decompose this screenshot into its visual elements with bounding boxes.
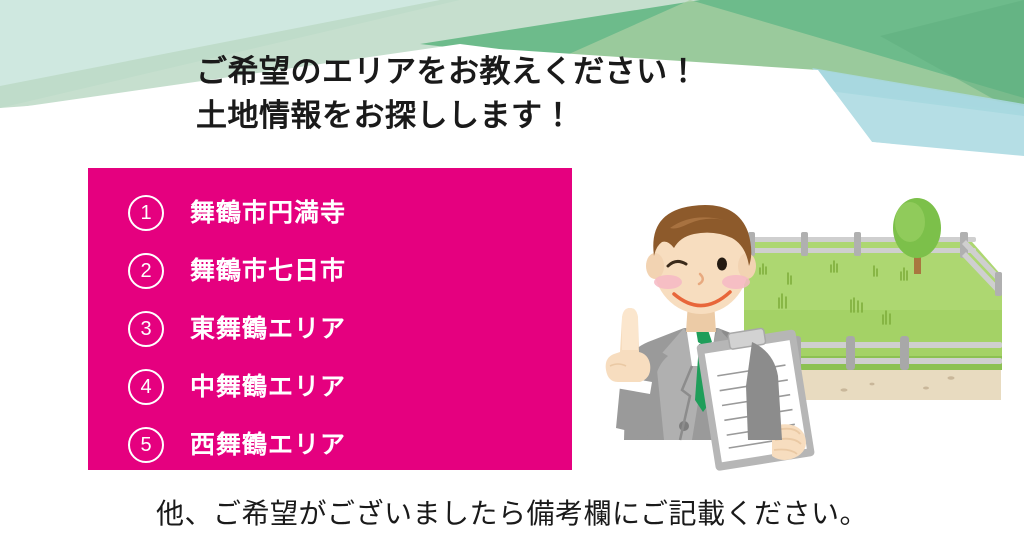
illustration-businessman-and-lot — [596, 190, 1024, 490]
pointing-finger — [622, 308, 638, 350]
list-item-number: 3 — [128, 311, 164, 347]
area-list-panel: 1 舞鶴市円満寺 2 舞鶴市七日市 3 東舞鶴エリア 4 中舞鶴エリア 5 西舞… — [88, 168, 572, 470]
list-item-label: 東舞鶴エリア — [190, 317, 346, 342]
heading-line-2: 土地情報をお探しします！ — [196, 94, 876, 138]
list-item-number: 4 — [128, 369, 164, 405]
fence-post-back-3 — [854, 232, 861, 256]
fence-post-side — [995, 272, 1002, 296]
list-item-label: 舞鶴市七日市 — [190, 259, 346, 284]
list-item[interactable]: 1 舞鶴市円満寺 — [88, 184, 572, 242]
list-item[interactable]: 4 中舞鶴エリア — [88, 358, 572, 416]
tree-foliage-highlight — [895, 202, 925, 242]
footer-note: 他、ご希望がございましたら備考欄にご記載ください。 — [0, 492, 1024, 532]
blush-left — [654, 275, 682, 289]
fence-post-front-2 — [846, 336, 855, 370]
ear-left — [646, 253, 664, 279]
list-item[interactable]: 2 舞鶴市七日市 — [88, 242, 572, 300]
list-item-label: 西舞鶴エリア — [190, 433, 346, 458]
list-item-label: 舞鶴市円満寺 — [190, 201, 346, 226]
heading-line-1: ご希望のエリアをお教えください！ — [196, 50, 876, 94]
eye-open — [717, 258, 727, 271]
list-item-number: 5 — [128, 427, 164, 463]
fence-post-back-2 — [801, 232, 808, 256]
list-item-number: 1 — [128, 195, 164, 231]
list-item[interactable]: 5 西舞鶴エリア — [88, 416, 572, 474]
green-slab-right — [880, 0, 1024, 116]
list-item-label: 中舞鶴エリア — [190, 375, 346, 400]
fence-post-front-3 — [900, 336, 909, 370]
list-item[interactable]: 3 東舞鶴エリア — [88, 300, 572, 358]
promo-banner: ご希望のエリアをお教えください！ 土地情報をお探しします！ 1 舞鶴市円満寺 2… — [0, 0, 1024, 557]
list-item-number: 2 — [128, 253, 164, 289]
page-title: ご希望のエリアをお教えください！ 土地情報をお探しします！ — [196, 50, 876, 138]
blush-right — [722, 275, 750, 289]
